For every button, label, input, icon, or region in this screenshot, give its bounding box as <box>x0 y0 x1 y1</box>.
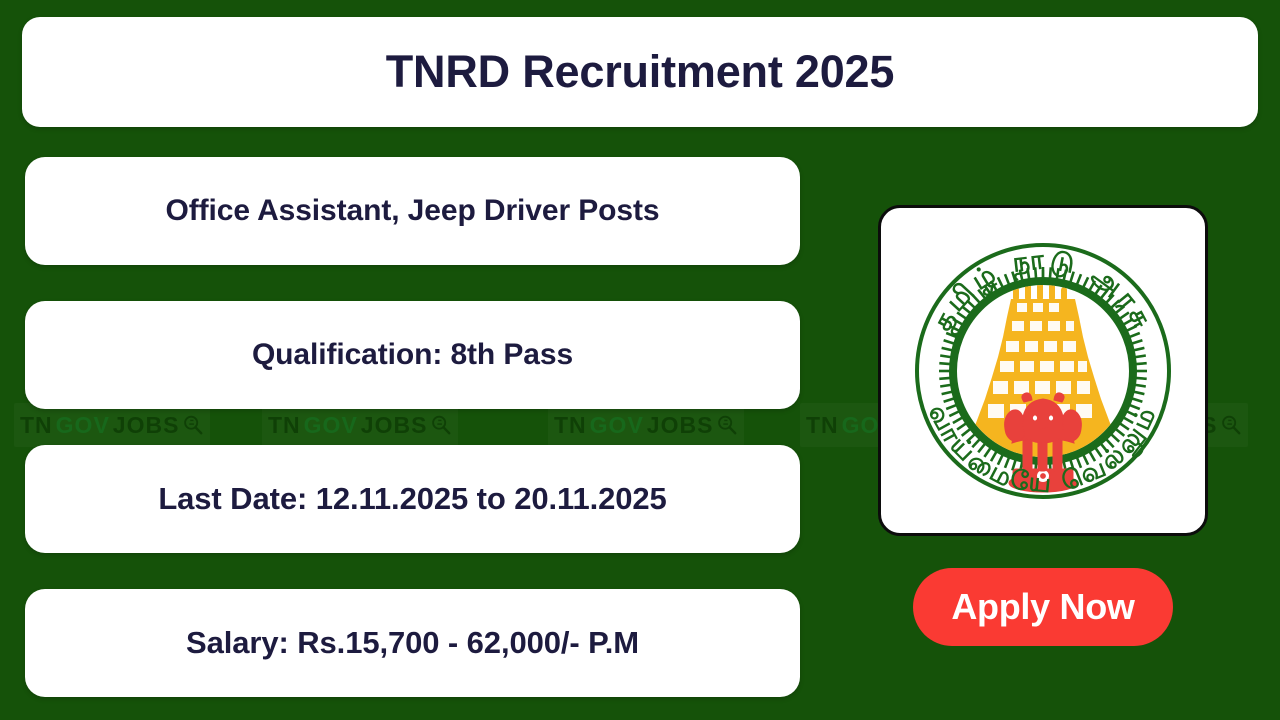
watermark: TNGOVJOBS <box>14 403 210 447</box>
header-card: TNRD Recruitment 2025 <box>22 17 1258 127</box>
magnifier-icon <box>430 414 452 436</box>
watermark-text-tn: TN <box>268 414 301 437</box>
info-card-text: Salary: Rs.15,700 - 62,000/- P.M <box>186 625 639 661</box>
magnifier-icon <box>1220 414 1242 436</box>
info-card-salary: Salary: Rs.15,700 - 62,000/- P.M <box>25 589 800 697</box>
info-card-qualification: Qualification: 8th Pass <box>25 301 800 409</box>
poster-background: TNGOVJOBS TNGOVJOBS TNGOVJOBS <box>0 0 1280 720</box>
watermark-text-jobs: JOBS <box>647 414 714 437</box>
watermark-text-gov: GOV <box>56 414 110 437</box>
info-card-last-date: Last Date: 12.11.2025 to 20.11.2025 <box>25 445 800 553</box>
watermark: TNGOVJOBS <box>262 403 458 447</box>
apply-now-label: Apply Now <box>951 586 1134 628</box>
apply-now-button[interactable]: Apply Now <box>913 568 1173 646</box>
tamil-nadu-government-emblem-icon: தமிழ் நாடு அரசு <box>893 221 1193 521</box>
watermark-text-tn: TN <box>806 414 839 437</box>
emblem-card: தமிழ் நாடு அரசு <box>878 205 1208 536</box>
watermark-text-gov: GOV <box>590 414 644 437</box>
watermark-text-jobs: JOBS <box>113 414 180 437</box>
watermark: TNGOVJOBS <box>548 403 744 447</box>
page-title: TNRD Recruitment 2025 <box>386 46 894 98</box>
info-card-text: Last Date: 12.11.2025 to 20.11.2025 <box>158 481 666 517</box>
watermark-text-jobs: JOBS <box>361 414 428 437</box>
watermark-text-tn: TN <box>554 414 587 437</box>
info-card-posts: Office Assistant, Jeep Driver Posts <box>25 157 800 265</box>
info-card-text: Office Assistant, Jeep Driver Posts <box>166 194 660 228</box>
magnifier-icon <box>716 414 738 436</box>
magnifier-icon <box>182 414 204 436</box>
watermark-text-tn: TN <box>20 414 53 437</box>
info-card-text: Qualification: 8th Pass <box>252 338 573 372</box>
watermark-text-gov: GOV <box>304 414 358 437</box>
